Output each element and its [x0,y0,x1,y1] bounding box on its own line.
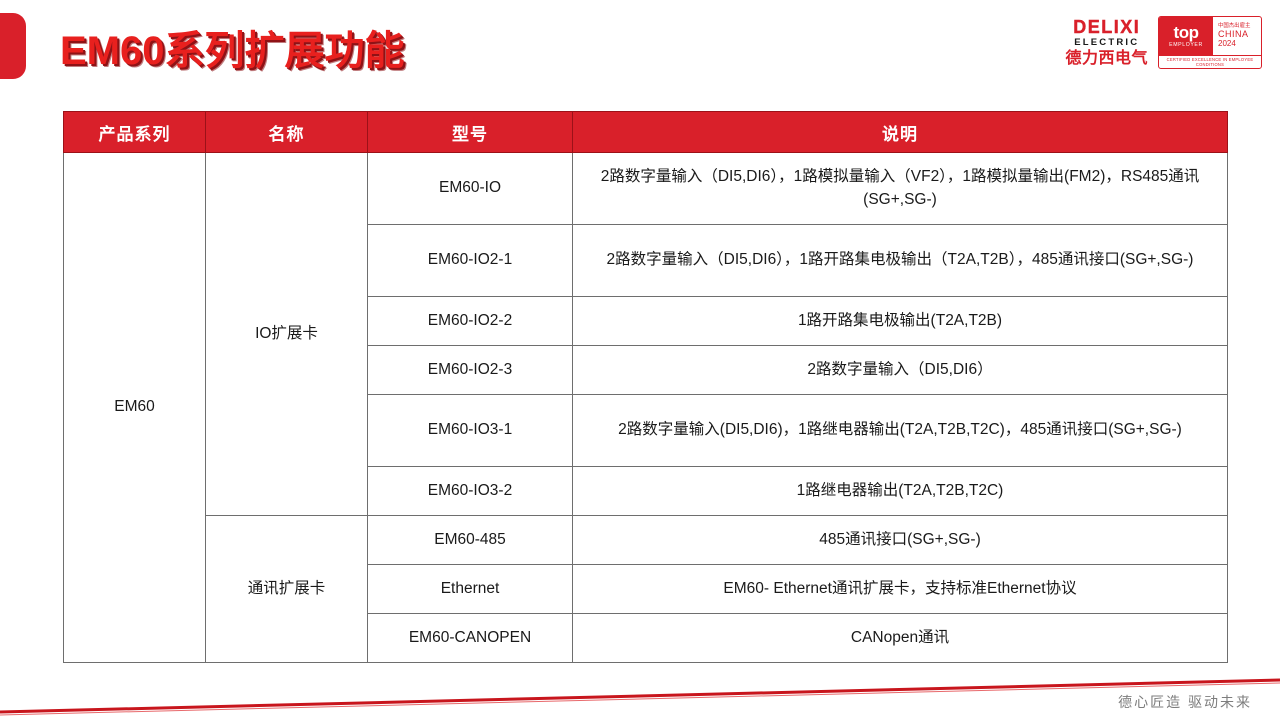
badge-main: top EMPLOYER 中国杰出雇主 CHINA 2024 [1159,17,1261,55]
badge-right-panel: 中国杰出雇主 CHINA 2024 [1213,17,1261,55]
badge-certification-text: CERTIFIED EXCELLENCE IN EMPLOYEE CONDITI… [1159,55,1261,69]
expansion-spec-table: 产品系列 名称 型号 说明 EM60 IO扩展卡 EM60-IO 2路数字量输入… [63,111,1228,663]
cell-description: 2路数字量输入（DI5,DI6），1路开路集电极输出（T2A,T2B），485通… [573,225,1228,297]
cell-group-io: IO扩展卡 [206,153,368,516]
cell-model: EM60-IO2-2 [368,297,573,346]
page-title: EM60系列扩展功能 [60,18,405,76]
page-footer: 德心匠造 驱动未来 [0,650,1280,720]
badge-country: CHINA [1218,29,1261,39]
badge-employer-text: EMPLOYER [1169,43,1203,48]
column-header-name: 名称 [206,112,368,153]
footer-slogan: 德心匠造 驱动未来 [1118,692,1252,712]
cell-model: EM60-IO3-2 [368,467,573,516]
cell-model: EM60-485 [368,516,573,565]
spec-table-container: 产品系列 名称 型号 说明 EM60 IO扩展卡 EM60-IO 2路数字量输入… [63,111,1228,663]
brand-logo-block: DELIXI ELECTRIC 德力西电气 top EMPLOYER 中国杰出雇… [1065,16,1262,69]
table-row: EM60 IO扩展卡 EM60-IO 2路数字量输入（DI5,DI6），1路模拟… [64,153,1228,225]
cell-model: Ethernet [368,565,573,614]
table-row: 通讯扩展卡 EM60-485 485通讯接口(SG+,SG-) [64,516,1228,565]
badge-year: 2024 [1218,39,1261,48]
cell-model: EM60-IO [368,153,573,225]
cell-description: EM60- Ethernet通讯扩展卡，支持标准Ethernet协议 [573,565,1228,614]
footer-diagonal-line [0,650,1280,720]
badge-left-panel: top EMPLOYER [1159,17,1213,55]
delixi-brand-sub: ELECTRIC [1074,38,1139,48]
cell-group-comm: 通讯扩展卡 [206,516,368,663]
cell-description: 1路继电器输出(T2A,T2B,T2C) [573,467,1228,516]
accent-bar [0,13,26,79]
badge-top-text: top [1174,24,1199,41]
column-header-series: 产品系列 [64,112,206,153]
cell-model: EM60-IO2-1 [368,225,573,297]
cell-description: 2路数字量输入（DI5,DI6） [573,346,1228,395]
page-header: EM60系列扩展功能 DELIXI ELECTRIC 德力西电气 top EMP… [0,0,1280,95]
cell-description: 1路开路集电极输出(T2A,T2B) [573,297,1228,346]
cell-description: 485通讯接口(SG+,SG-) [573,516,1228,565]
top-employer-badge: top EMPLOYER 中国杰出雇主 CHINA 2024 CERTIFIED… [1158,16,1262,69]
cell-model: EM60-IO3-1 [368,395,573,467]
table-header-row: 产品系列 名称 型号 说明 [64,112,1228,153]
cell-model: EM60-IO2-3 [368,346,573,395]
cell-product-series: EM60 [64,153,206,663]
cell-description: 2路数字量输入(DI5,DI6)，1路继电器输出(T2A,T2B,T2C)，48… [573,395,1228,467]
delixi-brand-en: DELIXI [1073,18,1140,36]
cell-description: 2路数字量输入（DI5,DI6），1路模拟量输入（VF2），1路模拟量输出(FM… [573,153,1228,225]
column-header-model: 型号 [368,112,573,153]
column-header-description: 说明 [573,112,1228,153]
delixi-logo: DELIXI ELECTRIC 德力西电气 [1065,18,1148,67]
delixi-brand-cn: 德力西电气 [1065,51,1148,67]
